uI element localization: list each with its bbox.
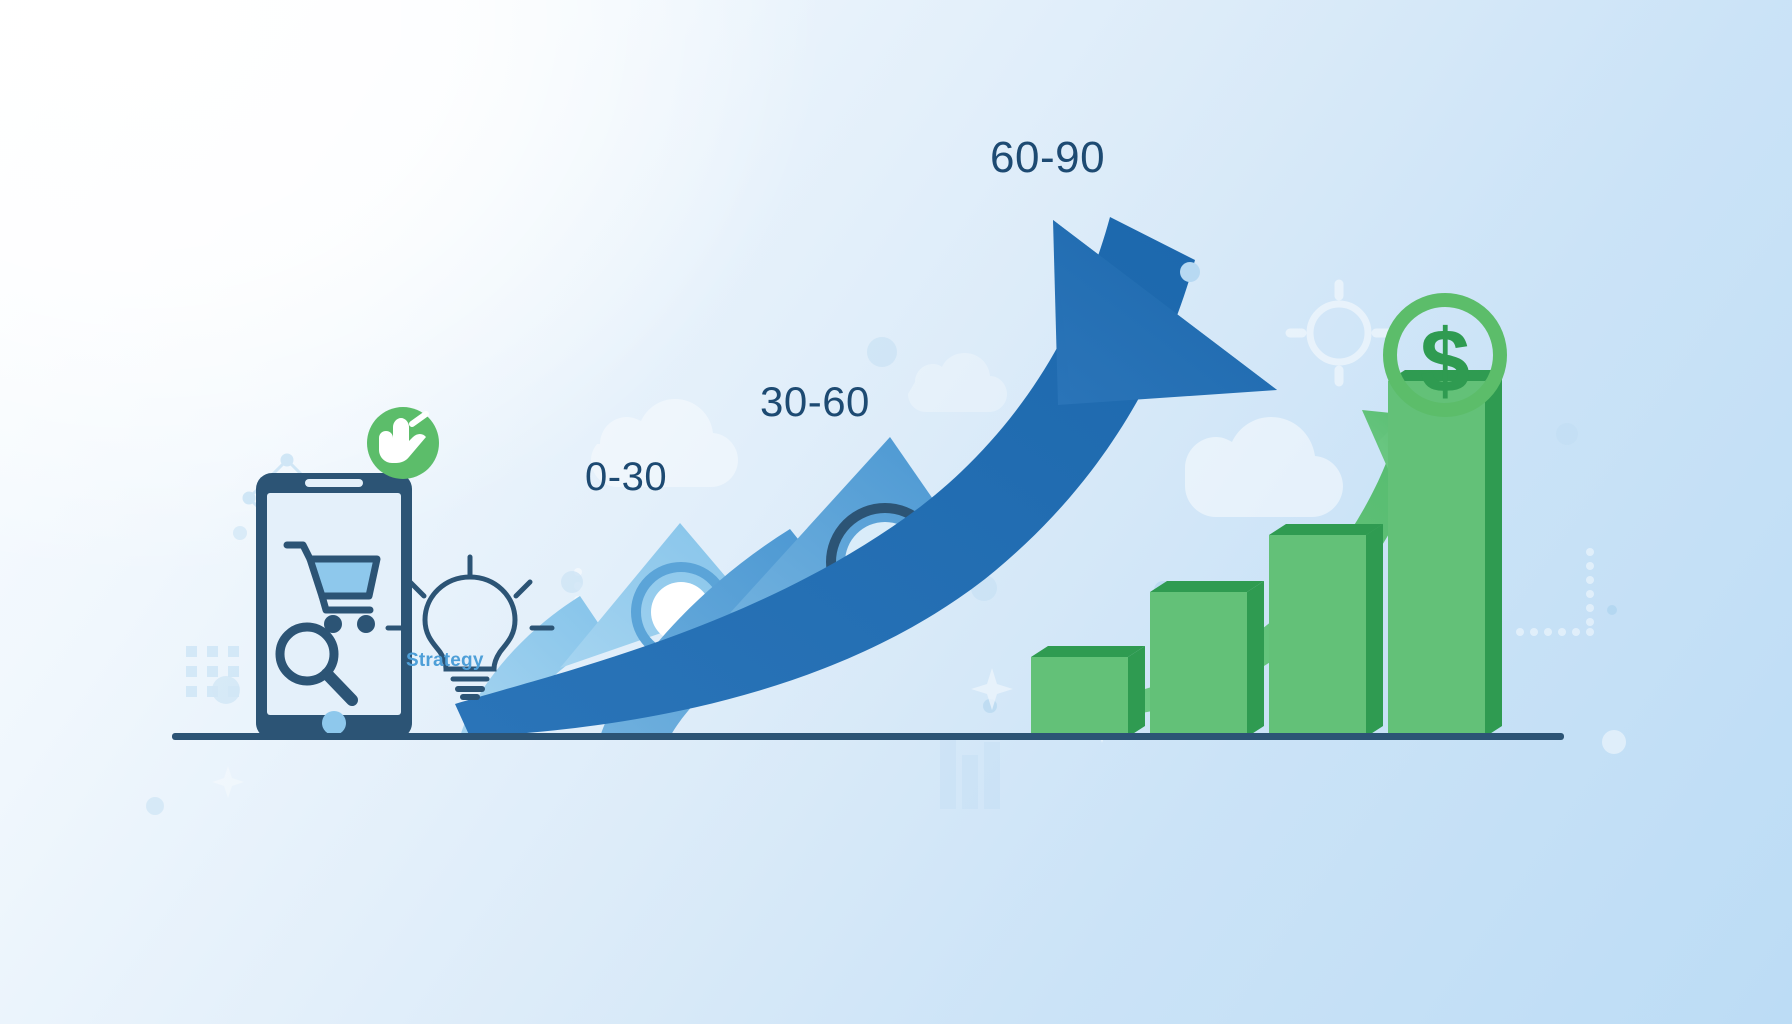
dotted-bracket	[1516, 548, 1594, 636]
bar-2	[1150, 581, 1264, 737]
baseline	[172, 733, 1564, 740]
dollar-circle-icon: $	[1390, 300, 1500, 412]
bar-3	[1269, 524, 1383, 737]
illustration-canvas: $	[0, 0, 1792, 1024]
svg-text:$: $	[1420, 312, 1470, 412]
faint-buildings	[940, 735, 1000, 809]
sparkle-icon	[212, 766, 244, 798]
growth-illustration: $	[0, 0, 1792, 1024]
smartphone-icon	[256, 473, 412, 739]
click-hand-icon	[367, 407, 439, 479]
cloud-icon	[908, 353, 1007, 412]
stage-label-60-90: 60-90	[990, 133, 1105, 183]
bar-1	[1031, 646, 1145, 737]
strategy-label: Strategy	[406, 650, 484, 672]
bar-4	[1388, 370, 1502, 737]
stage-label-0-30: 0-30	[585, 455, 667, 500]
stage-label-30-60: 30-60	[760, 378, 870, 426]
sparkle-icon	[971, 668, 1013, 710]
cloud-icon	[1185, 417, 1343, 517]
crosshair-target-icon	[1290, 284, 1388, 382]
